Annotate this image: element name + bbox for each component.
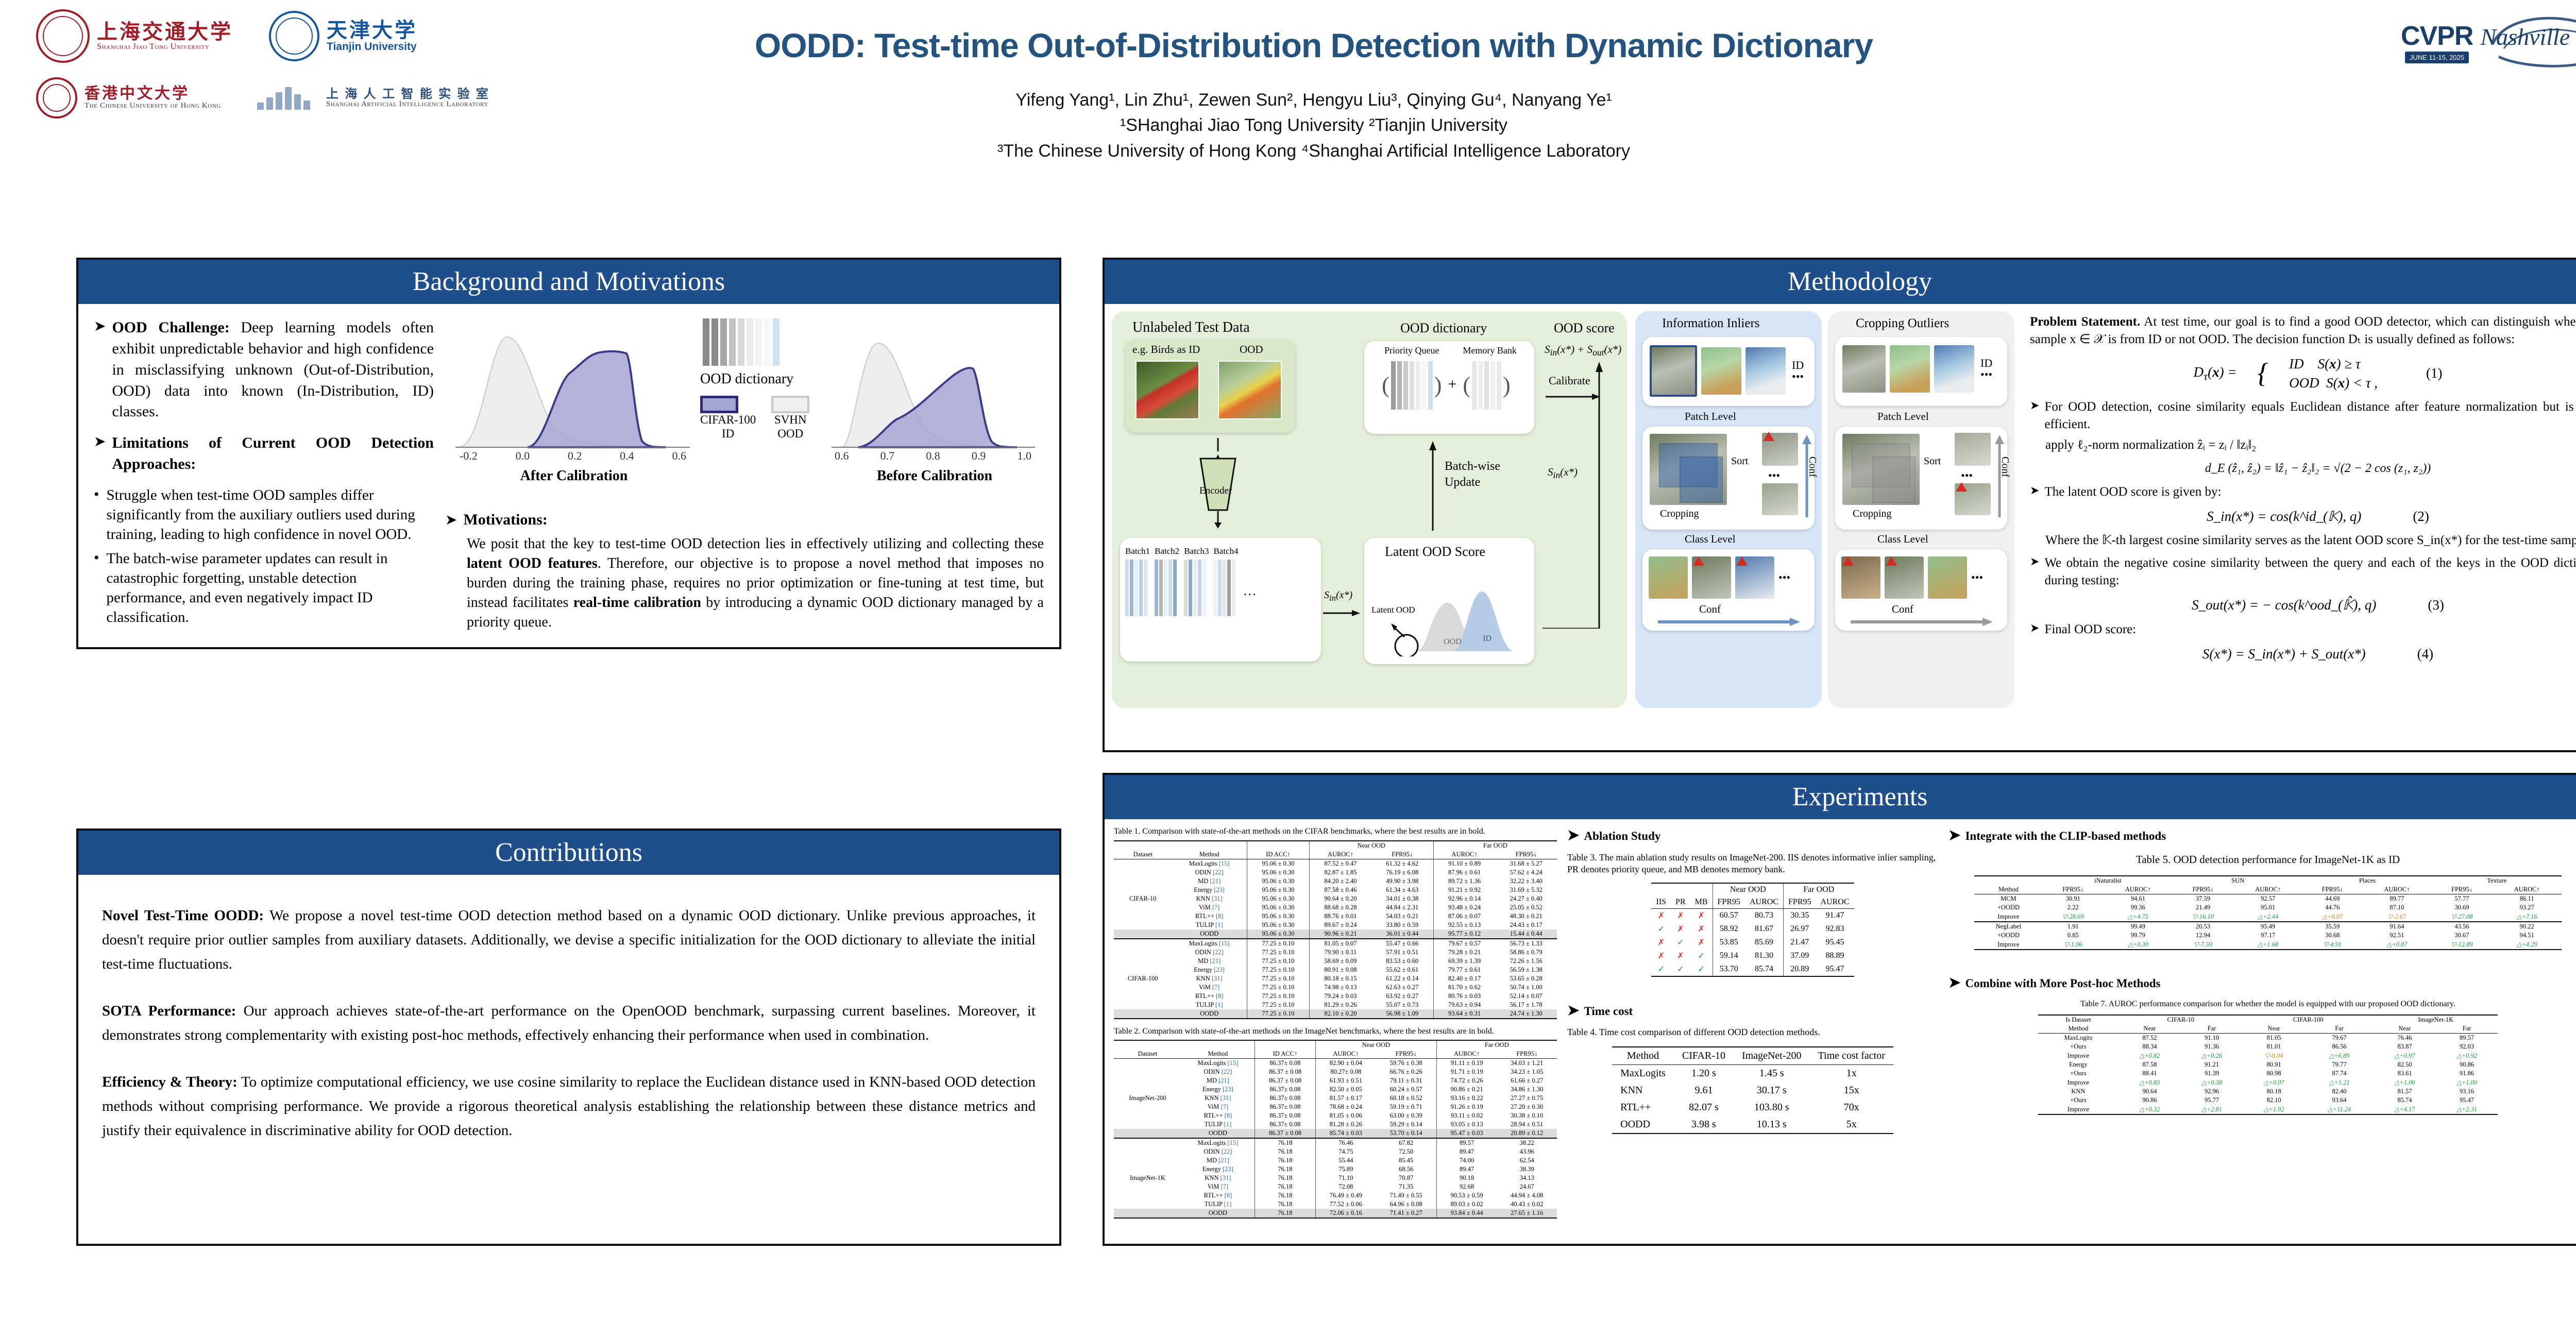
bullet-limitations: ➤ Limitations of Current OOD Detection A… bbox=[94, 433, 434, 475]
table-row: CIFAR-10KNN [31]95.06 ± 0.3090.64 ± 0.20… bbox=[1114, 894, 1557, 903]
sort-ellipsis: ••• bbox=[1961, 469, 1973, 482]
batch-item: Batch1 bbox=[1125, 546, 1150, 616]
contribution-item-2: SOTA Performance: Our approach achieves … bbox=[102, 999, 1036, 1047]
priority-queue-block: Priority Queue ( ) bbox=[1382, 345, 1442, 410]
cuhk-name-en: The Chinese University of Hong Kong bbox=[84, 102, 221, 110]
table-row: Energy [23]77.25 ± 0.1080.91 ± 0.0855.62… bbox=[1114, 966, 1557, 974]
bullet-cosine-equivalence: ➤ For OOD detection, cosine similarity e… bbox=[2030, 398, 2576, 433]
table-row: Improve▽-28.69△+4.75▽-16.10△+2.44△+0.07▽… bbox=[1974, 912, 2562, 922]
chart-after-calibration: -0.20.0 0.20.4 0.6 After Calibration bbox=[450, 317, 698, 472]
label-latent-ood: Latent OOD bbox=[1371, 605, 1415, 615]
limitation-item-2: • The batch-wise parameter updates can r… bbox=[94, 549, 434, 628]
batches-card: Batch1 Batch2 Batch3 Batch4 bbox=[1120, 538, 1321, 662]
label-birds-as-id: e.g. Birds as ID bbox=[1132, 343, 1200, 356]
label-ood-score: OOD score bbox=[1554, 320, 1615, 336]
ood-dictionary-caption: OOD dictionary bbox=[700, 371, 793, 387]
table-row: Improve△+0.82△+0.26▽-0.04△+6.89△+0.97△+0… bbox=[2038, 1051, 2498, 1060]
pipeline-diagram: Unlabeled Test Data e.g. Birds as ID OOD bbox=[1112, 311, 1627, 708]
legend-swatch-svhn bbox=[771, 396, 809, 413]
table-row: OODD76.1872.06 ± 0.1671.41 ± 0.2793.84 ±… bbox=[1114, 1209, 1557, 1217]
cropping-outliers-block: Cropping Outliers ID••• Patch Level bbox=[1828, 311, 2014, 708]
table-row: OODD86.37 ± 0.0885.74 ± 0.0353.70 ± 0.14… bbox=[1114, 1129, 1557, 1138]
shailab-name-cn: 上 海 人 工 智 能 实 验 室 bbox=[326, 88, 489, 100]
arrow-bullet-icon: ➤ bbox=[1567, 826, 1579, 845]
bullet-final-score: ➤ Final OOD score: bbox=[2030, 621, 2576, 638]
label-encoder: Encoder bbox=[1199, 485, 1232, 497]
experiments-column-3: ➤ Integrate with the CLIP-based methods … bbox=[1948, 826, 2576, 1219]
label-batch-wise-update: Batch-wiseUpdate bbox=[1445, 459, 1500, 491]
logo-sjtu: 上海交通大学 Shanghai Jiao Tong University bbox=[36, 9, 233, 63]
ood-dictionary-card: Priority Queue ( ) + Memory Bank bbox=[1364, 341, 1534, 434]
latent-ood-score-card: Latent OOD Score OOD ID Latent OOD bbox=[1364, 538, 1534, 664]
tju-name-en: Tianjin University bbox=[327, 41, 417, 53]
label-sort-outlier: Sort bbox=[1924, 455, 1941, 467]
contributions-heading: Contributions bbox=[78, 831, 1059, 875]
table-row: ✓✗✗58.9281.6726.9792.83 bbox=[1651, 922, 1854, 936]
experiments-column-2: ➤ Ablation Study Table 3. The main ablat… bbox=[1567, 826, 1938, 1219]
page-title: OODD: Test-time Out-of-Distribution Dete… bbox=[634, 26, 1994, 65]
label-cropping-outliers: Cropping Outliers bbox=[1856, 316, 1949, 331]
equation-3: S_out(x*) = − cos(k^ood_(𝕂̂), q)(3) bbox=[2030, 596, 2576, 615]
experiments-heading: Experiments bbox=[1105, 775, 2576, 819]
label-unlabeled-test-data: Unlabeled Test Data bbox=[1132, 319, 1250, 336]
table-row: MD [21]86.37 ± 0.0861.93 ± 0.5179.11 ± 0… bbox=[1114, 1076, 1557, 1085]
table3-caption: Table 3. The main ablation study results… bbox=[1567, 852, 1938, 875]
cuhk-seal-icon bbox=[36, 77, 77, 119]
legend-cifar-label: CIFAR-100ID bbox=[700, 413, 756, 441]
experiments-column-1: Table 1. Comparison with state-of-the-ar… bbox=[1114, 826, 1557, 1219]
cvpr-wordmark: CVPR bbox=[2401, 21, 2473, 51]
motivations-block: ➤ Motivations: We posit that the key to … bbox=[445, 511, 1044, 632]
affiliation-line-1: ¹SHanghai Jiao Tong University ²Tianjin … bbox=[634, 113, 1994, 138]
arrow-batch-wise-update bbox=[1427, 440, 1438, 531]
inlier-photo-3 bbox=[1745, 347, 1786, 395]
class-ellipsis: ••• bbox=[1778, 571, 1790, 584]
shailab-bars-icon bbox=[257, 86, 319, 110]
outlier-photo-1 bbox=[1842, 345, 1886, 393]
after-calibration-xticks: -0.20.0 0.20.4 0.6 bbox=[460, 449, 686, 463]
ood-challenge-title: OOD Challenge: bbox=[112, 319, 229, 336]
background-left-column: ➤ OOD Challenge: Deep learning models of… bbox=[94, 317, 434, 632]
background-heading: Background and Motivations bbox=[78, 260, 1059, 304]
experiments-panel: Experiments Table 1. Comparison with sta… bbox=[1103, 773, 2576, 1246]
svg-text:OOD: OOD bbox=[1444, 637, 1462, 646]
table-row: ViM [7]95.06 ± 0.3088.68 ± 0.2844.84 ± 2… bbox=[1114, 903, 1557, 912]
latent-score-note: Where the 𝕂-th largest cosine similarity… bbox=[2030, 532, 2576, 549]
table-row: +Ours88.4191.3980.9887.7483.6191.86 bbox=[2038, 1069, 2498, 1078]
batch-item: Batch4 bbox=[1213, 546, 1238, 616]
arrow-bullet-icon: ➤ bbox=[1948, 826, 1960, 845]
bullet-latent-score: ➤ The latent OOD score is given by: bbox=[2030, 483, 2576, 501]
table-row: MD [21]95.06 ± 0.3084.20 ± 2.4049.90 ± 3… bbox=[1114, 877, 1557, 886]
before-calibration-xlabel: Before Calibration bbox=[826, 468, 1043, 484]
bullet-negative-cosine: ➤ We obtain the negative cosine similari… bbox=[2030, 554, 2576, 589]
table-row: MaxLogits1.20 s1.45 s1x bbox=[1612, 1065, 1893, 1083]
sjtu-seal-icon bbox=[36, 9, 90, 63]
logo-shailab: 上 海 人 工 智 能 实 验 室 Shanghai Artificial In… bbox=[257, 86, 489, 110]
encoder-shape bbox=[1174, 438, 1261, 531]
arrow-bullet-icon: ➤ bbox=[94, 317, 106, 422]
affiliation-line-2: ³The Chinese University of Hong Kong ⁴Sh… bbox=[634, 139, 1994, 164]
legend-swatch-cifar bbox=[700, 396, 738, 413]
table-imagenet-comparison: Near OODFar OODDatasetMethodID ACC↑AUROC… bbox=[1114, 1040, 1557, 1219]
label-conf-vertical-outlier: Conf bbox=[1999, 456, 2011, 477]
label-s-in-1: Sin(x*) bbox=[1324, 589, 1352, 603]
motivations-title: Motivations: bbox=[463, 511, 547, 530]
class-ellipsis: ••• bbox=[1971, 571, 1983, 584]
equation-euclidean: d_E (ẑ₁, ẑ₂) = ‖ẑ₁ − ẑ₂‖₂ = √(2 − 2 cos … bbox=[2030, 460, 2576, 477]
ood-dictionary-strip bbox=[703, 318, 779, 366]
table-row: MaxLogits [15]86.37± 0.0882.90 ± 0.0459.… bbox=[1114, 1059, 1557, 1068]
conference-logo: CVPR Nashville JUNE 11-15, 2025 bbox=[2401, 11, 2576, 73]
background-right-column: -0.20.0 0.20.4 0.6 After Calibration bbox=[445, 317, 1044, 632]
legend-svhn-ood: SVHNOOD bbox=[771, 396, 809, 441]
contributions-panel: Contributions Novel Test-Time OODD: We p… bbox=[76, 828, 1061, 1246]
author-names: Yifeng Yang¹, Lin Zhu¹, Zewen Sun², Heng… bbox=[634, 88, 1994, 113]
table-row: +Ours88.3491.3681.0186.5683.8792.03 bbox=[2038, 1042, 2498, 1051]
sjtu-name-cn: 上海交通大学 bbox=[97, 21, 233, 43]
table-row: Improve△+0.83△+0.38△+0.07△+1.21△+1.00△+1… bbox=[2038, 1078, 2498, 1087]
table-row: MaxLogits [15]95.06 ± 0.3087.52 ± 0.4761… bbox=[1114, 859, 1557, 868]
score-return-path bbox=[1537, 361, 1604, 629]
table-row: Improve△+0.32△+2.81△+1.92△+11.24△+4.17△+… bbox=[2038, 1105, 2498, 1114]
table-row: +OODD0.8599.7912.9497.1730.6892.5130.679… bbox=[1974, 931, 2562, 940]
table-row: ImageNet-1KKNN [31]76.1871.1070.8790.183… bbox=[1114, 1174, 1557, 1182]
label-class-level-inlier: Class Level bbox=[1685, 533, 1736, 546]
table-cifar-comparison: Near OODFar OODDatasetMethodID ACC↑AUROC… bbox=[1114, 840, 1557, 1019]
author-block: Yifeng Yang¹, Lin Zhu¹, Zewen Sun², Heng… bbox=[634, 88, 1994, 164]
legend-cifar100-id: CIFAR-100ID bbox=[700, 396, 756, 441]
contribution-item-1: Novel Test-Time OODD: We propose a novel… bbox=[102, 904, 1036, 976]
poster-root: 上海交通大学 Shanghai Jiao Tong University 天津大… bbox=[0, 0, 2576, 1319]
table-row: OODD77.25 ± 0.1082.10 ± 0.2056.98 ± 1.09… bbox=[1114, 1009, 1557, 1018]
plus-sign: + bbox=[1448, 362, 1456, 393]
equation-2: S_in(x*) = cos(k^id_(𝕂), q)(2) bbox=[2030, 507, 2576, 526]
tju-seal-icon bbox=[269, 11, 319, 61]
table-row: Energy87.5891.2180.9179.7782.5090.86 bbox=[2038, 1060, 2498, 1069]
information-inliers-block: Information Inliers ID••• Patch Level bbox=[1635, 311, 1822, 708]
table-row: OODD3.98 s10.13 s5x bbox=[1612, 1116, 1893, 1133]
table-row: TULIP [1]76.1877.52 ± 0.0664.96 ± 0.0889… bbox=[1114, 1200, 1557, 1209]
table-row: MaxLogits [15]77.25 ± 0.1081.05 ± 0.0755… bbox=[1114, 939, 1557, 948]
calibration-figure: -0.20.0 0.20.4 0.6 After Calibration bbox=[445, 317, 1044, 503]
arrow-bullet-icon: ➤ bbox=[2030, 483, 2039, 501]
dot-bullet-icon: • bbox=[94, 549, 99, 628]
inlier-patch-row: ID••• bbox=[1642, 337, 1815, 406]
table-row: ✗✓✗53.8585.6921.4795.45 bbox=[1651, 936, 1854, 949]
equation-1: Dτ(x) = { ID S(x) ≥ τ OOD S(x) < τ , (1) bbox=[2030, 354, 2576, 392]
label-latent-ood-score: Latent OOD Score bbox=[1385, 544, 1485, 560]
label-cropping-outlier: Cropping bbox=[1853, 508, 1892, 520]
label-ood-score-formula: Sin(x*) + Sout(x*) bbox=[1545, 343, 1621, 358]
label-ood: OOD bbox=[1240, 343, 1263, 356]
table-clip-methods: iNaturalistSUNPlacesTextureMethodFPR95↓A… bbox=[1974, 875, 2562, 950]
table-row: MD [21]77.25 ± 0.1058.69 ± 0.0983.53 ± 0… bbox=[1114, 957, 1557, 966]
outlier-patch-row: ID••• bbox=[1835, 337, 2007, 406]
clip-section-heading: ➤ Integrate with the CLIP-based methods bbox=[1948, 826, 2576, 845]
table-row: TULIP [1]77.25 ± 0.1081.29 ± 0.2655.07 ±… bbox=[1114, 1001, 1557, 1009]
before-calibration-xticks: 0.60.7 0.80.9 1.0 bbox=[835, 449, 1031, 463]
label-conf-inlier: Conf bbox=[1699, 603, 1721, 616]
outlier-class-row: ••• Conf bbox=[1835, 549, 2007, 631]
ablation-section-heading: ➤ Ablation Study bbox=[1567, 826, 1938, 845]
butterfly-ood-thumbnail bbox=[1218, 361, 1282, 419]
outlier-cropping-row: Cropping Sort ••• Conf bbox=[1835, 427, 2007, 530]
logo-cluster: 上海交通大学 Shanghai Jiao Tong University 天津大… bbox=[21, 5, 654, 139]
red-triangle-icon bbox=[1763, 432, 1774, 441]
dot-bullet-icon: • bbox=[94, 485, 99, 545]
l2-normalization-note: apply ℓ₂-norm normalization ẑᵢ = zᵢ / ‖z… bbox=[2030, 436, 2576, 454]
table-row: ViM [7]86.37± 0.0878.68 ± 0.2459.19 ± 0.… bbox=[1114, 1103, 1557, 1111]
table-row: RTL++ [8]95.06 ± 0.3088.76 ± 0.0154.03 ±… bbox=[1114, 912, 1557, 921]
arrow-bullet-icon: ➤ bbox=[1948, 974, 1960, 992]
motivations-text: We posit that the key to test-time OOD d… bbox=[445, 534, 1044, 632]
bird-id-thumbnail bbox=[1136, 361, 1199, 419]
cuhk-name-cn: 香港中文大学 bbox=[84, 86, 221, 102]
table-time-cost: MethodCIFAR-10ImageNet-200Time cost fact… bbox=[1612, 1046, 1893, 1134]
class-photo-1 bbox=[1649, 556, 1688, 599]
table-row: Energy [23]86.37± 0.0882.50 ± 0.0560.24 … bbox=[1114, 1085, 1557, 1094]
outlier-photo-2 bbox=[1890, 345, 1930, 393]
batch-ellipsis: … bbox=[1243, 583, 1257, 616]
sort-ellipsis: ••• bbox=[1768, 469, 1780, 482]
inlier-photo-1 bbox=[1650, 345, 1697, 397]
table-row: MaxLogits [15]76.1876.4667.8289.5738.22 bbox=[1114, 1139, 1557, 1147]
limitations-title: Limitations of Current OOD Detection App… bbox=[112, 433, 434, 475]
methodology-heading: Methodology bbox=[1105, 260, 2576, 304]
table-row: ViM [7]76.1872.0871.3592.6824.67 bbox=[1114, 1182, 1557, 1191]
inlier-photo-2 bbox=[1701, 347, 1741, 395]
arrow-bullet-icon: ➤ bbox=[2030, 398, 2039, 433]
table-row: ViM [7]77.25 ± 0.1074.98 ± 0.1362.63 ± 0… bbox=[1114, 983, 1557, 992]
background-panel: Background and Motivations ➤ OOD Challen… bbox=[76, 258, 1061, 649]
tju-name-cn: 天津大学 bbox=[327, 20, 417, 41]
table-row: MaxLogits87.5291.1081.0579.6776.4689.57 bbox=[2038, 1034, 2498, 1043]
cvpr-city: Nashville bbox=[2480, 24, 2570, 50]
table-row: Energy [23]95.06 ± 0.3087.58 ± 0.4661.34… bbox=[1114, 886, 1557, 894]
table7-caption: Table 7. AUROC performance comparison fo… bbox=[1948, 999, 2576, 1009]
logo-cuhk: 香港中文大学 The Chinese University of Hong Ko… bbox=[36, 77, 221, 119]
table-row: TULIP [1]86.37± 0.0881.28 ± 0.2659.29 ± … bbox=[1114, 1120, 1557, 1129]
chart-before-calibration: 0.60.7 0.80.9 1.0 Before Calibration bbox=[826, 317, 1043, 472]
cvpr-dates: JUNE 11-15, 2025 bbox=[2405, 52, 2469, 63]
svg-text:ID: ID bbox=[1483, 634, 1492, 643]
table-row: TULIP [1]95.06 ± 0.3089.67 ± 0.2433.80 ±… bbox=[1114, 921, 1557, 929]
outlier-class-photo-3 bbox=[1928, 556, 1967, 599]
label-class-level-outlier: Class Level bbox=[1877, 533, 1928, 546]
table-row: +Ours90.8695.7782.1093.6485.7495.47 bbox=[2038, 1096, 2498, 1105]
memory-bank-block: Memory Bank ( ) bbox=[1463, 345, 1516, 410]
arrow-bullet-icon: ➤ bbox=[2030, 554, 2039, 589]
table-row: ImageNet-200KNN [31]86.37± 0.0881.57 ± 0… bbox=[1114, 1094, 1557, 1103]
table-row: ✓✓✓53.7085.7420.8995.47 bbox=[1651, 962, 1854, 976]
table-row: ODIN [22]86.37 ± 0.0880.27± 0.0866.76 ± … bbox=[1114, 1068, 1557, 1076]
table-row: ODIN [22]95.06 ± 0.3082.87 ± 1.8576.19 ±… bbox=[1114, 868, 1557, 877]
inlier-cropping-row: Cropping Sort ••• Conf bbox=[1642, 427, 1815, 530]
test-data-card: e.g. Birds as ID OOD bbox=[1125, 340, 1295, 433]
contribution-item-3: Efficiency & Theory: To optimize computa… bbox=[102, 1070, 1036, 1143]
table-row: +OODD2.2299.3621.4995.0144.7687.1030.699… bbox=[1974, 903, 2562, 912]
label-conf-vertical-inlier: Conf bbox=[1806, 456, 1818, 477]
table-row: RTL++ [8]77.25 ± 0.1079.24 ± 0.0363.92 ±… bbox=[1114, 992, 1557, 1001]
arrow-bullet-icon: ➤ bbox=[1567, 1002, 1579, 1020]
label-information-inliers: Information Inliers bbox=[1662, 316, 1760, 331]
table-posthoc-methods: Is DatasetCIFAR-10CIFAR-100ImageNet-1KMe… bbox=[2038, 1014, 2498, 1115]
label-id-outliers: ID••• bbox=[1978, 358, 1992, 380]
table5-caption: Table 5. OOD detection performance for I… bbox=[1948, 853, 2576, 867]
after-calibration-plot bbox=[450, 317, 698, 455]
limitation-item-1: • Struggle when test-time OOD samples di… bbox=[94, 485, 434, 545]
table-row: MCM30.9194.6137.5992.5744.6989.7757.7786… bbox=[1974, 894, 2562, 904]
table1-caption: Table 1. Comparison with state-of-the-ar… bbox=[1114, 826, 1557, 837]
limitation-item-1-text: Struggle when test-time OOD samples diff… bbox=[107, 485, 434, 545]
table-row: RTL++ [8]86.37± 0.0881.05 ± 0.0663.00 ± … bbox=[1114, 1111, 1557, 1120]
table-ablation-study: Near OODFar OODIISPRMBFPR95AUROCFPR95AUR… bbox=[1651, 883, 1854, 977]
label-id-inliers: ID••• bbox=[1790, 360, 1804, 382]
equation-4: S(x*) = S_in(x*) + S_out(x*)(4) bbox=[2030, 645, 2576, 664]
label-patch-level-inlier: Patch Level bbox=[1685, 410, 1736, 423]
posthoc-section-heading: ➤ Combine with More Post-hoc Methods bbox=[1948, 974, 2576, 992]
legend-svhn-label: SVHNOOD bbox=[771, 413, 809, 441]
label-sort-inlier: Sort bbox=[1731, 455, 1748, 467]
table-row: NegLabel1.9199.4920.5395.4935.5991.6443.… bbox=[1974, 922, 2562, 931]
table2-caption: Table 2. Comparison with state-of-the-ar… bbox=[1114, 1026, 1557, 1037]
arrow-bullet-icon: ➤ bbox=[445, 511, 457, 530]
inlier-sorted-bottom bbox=[1762, 483, 1798, 515]
label-patch-level-outlier: Patch Level bbox=[1877, 410, 1929, 423]
methodology-text-column: Problem Statement. At test time, our goa… bbox=[2025, 311, 2576, 708]
conf-arrow-inlier bbox=[1658, 617, 1802, 627]
after-calibration-xlabel: After Calibration bbox=[450, 468, 698, 484]
table-row: RTL++82.07 s103.80 s70x bbox=[1612, 1099, 1893, 1116]
outlier-sorted-top bbox=[1955, 433, 1991, 466]
table-row: Improve▽-1.06△+0.30▽-7.59△+1.68▽-4.91△+0… bbox=[1974, 940, 2562, 949]
table4-caption: Table 4. Time cost comparison of differe… bbox=[1567, 1026, 1938, 1038]
before-calibration-plot bbox=[826, 317, 1043, 455]
arrow-bullet-icon: ➤ bbox=[94, 433, 106, 475]
inlier-class-row: ••• Conf bbox=[1642, 549, 1815, 631]
label-ood-dictionary: OOD dictionary bbox=[1400, 320, 1487, 336]
red-triangle-icon bbox=[1956, 482, 1967, 492]
conf-arrow-outlier bbox=[1851, 617, 1995, 627]
batch-item: Batch3 bbox=[1184, 546, 1209, 616]
logo-tju: 天津大学 Tianjin University bbox=[269, 11, 417, 61]
label-cropping-inlier: Cropping bbox=[1660, 508, 1699, 520]
arrow-bullet-icon: ➤ bbox=[2030, 621, 2039, 638]
table-row: ✗✗✓59.1481.3037.0988.89 bbox=[1651, 949, 1854, 962]
methodology-panel: Methodology Unlabeled Test Data e.g. Bir… bbox=[1103, 258, 2576, 752]
table-row: CIFAR-100KNN [31]77.25 ± 0.1080.18 ± 0.1… bbox=[1114, 974, 1557, 983]
table-row: Energy [23]76.1875.8968.5689.4738.39 bbox=[1114, 1165, 1557, 1174]
table-row: ODIN [22]76.1874.7572.5089.4743.96 bbox=[1114, 1147, 1557, 1156]
table-row: OODD95.06 ± 0.3090.96 ± 0.2136.01 ± 0.44… bbox=[1114, 929, 1557, 939]
kde-legend: CIFAR-100ID SVHNOOD bbox=[700, 396, 809, 441]
label-conf-outlier: Conf bbox=[1892, 603, 1913, 616]
table-row: KNN9.6130.17 s15x bbox=[1612, 1082, 1893, 1099]
bullet-ood-challenge: ➤ OOD Challenge: Deep learning models of… bbox=[94, 317, 434, 422]
table-row: ✗✗✗60.5780.7330.3591.47 bbox=[1651, 908, 1854, 922]
batch-item: Batch2 bbox=[1155, 546, 1179, 616]
shailab-name-en: Shanghai Artificial Intelligence Laborat… bbox=[326, 100, 489, 109]
sjtu-name-en: Shanghai Jiao Tong University bbox=[97, 43, 233, 52]
problem-statement: Problem Statement. At test time, our goa… bbox=[2030, 313, 2576, 348]
inlier-outlier-figure: Information Inliers ID••• Patch Level bbox=[1635, 311, 2016, 708]
table-row: RTL++ [8]76.1876.49 ± 0.4971.49 ± 0.5590… bbox=[1114, 1191, 1557, 1200]
table-row: MD [21]76.1855.4485.4574.0062.54 bbox=[1114, 1156, 1557, 1165]
outlier-photo-3 bbox=[1934, 345, 1974, 393]
limitation-item-2-text: The batch-wise parameter updates can res… bbox=[107, 549, 434, 628]
table-row: ODIN [22]77.25 ± 0.1079.90 ± 0.1157.91 ±… bbox=[1114, 948, 1557, 957]
timecost-section-heading: ➤ Time cost bbox=[1567, 1002, 1938, 1020]
table-row: KNN90.6492.9680.1882.4081.5793.16 bbox=[2038, 1087, 2498, 1096]
arrow-to-latent-score bbox=[1323, 608, 1361, 618]
